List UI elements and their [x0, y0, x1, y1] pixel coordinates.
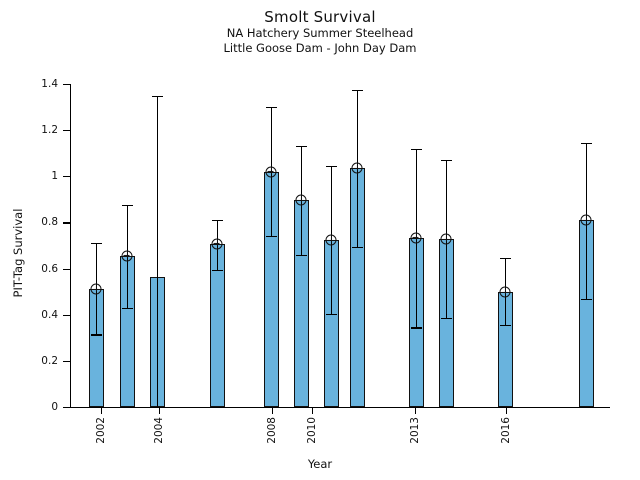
data-point-marker[interactable]: [500, 287, 511, 298]
error-bar-cap-upper: [122, 205, 133, 206]
y-tick-mark: [63, 130, 70, 131]
error-bar-cap-upper: [266, 107, 277, 108]
y-tick-label: 0.2: [16, 355, 58, 367]
data-point-marker[interactable]: [266, 166, 277, 177]
chart-figure: Smolt Survival NA Hatchery Summer Steelh…: [0, 0, 640, 480]
x-tick-label: 2008: [265, 417, 279, 461]
y-tick-label: 1: [16, 170, 58, 182]
y-tick-mark: [63, 222, 70, 223]
error-bar-cap-lower: [296, 255, 307, 256]
data-point-marker[interactable]: [122, 250, 133, 261]
data-point-marker[interactable]: [91, 284, 102, 295]
data-point-marker[interactable]: [441, 234, 452, 245]
x-tick-label: 2002: [94, 417, 108, 461]
data-point-marker[interactable]: [296, 195, 307, 206]
x-tick-mark: [101, 407, 102, 414]
x-tick-label-text: 2016: [500, 417, 512, 444]
x-tick-label: 2004: [152, 417, 166, 461]
y-tick-mark: [63, 407, 70, 408]
error-bar-cap-lower: [500, 325, 511, 326]
y-tick-mark: [63, 176, 70, 177]
error-bar-cap-lower: [266, 236, 277, 237]
y-tick-label: 1.4: [16, 78, 58, 90]
data-point-marker[interactable]: [326, 235, 337, 246]
x-tick-mark: [159, 407, 160, 414]
chart-subtitle-line-1: NA Hatchery Summer Steelhead: [0, 26, 640, 41]
error-bar-cap-upper: [152, 96, 163, 97]
data-point-marker[interactable]: [352, 163, 363, 174]
error-bar-cap-lower: [326, 314, 337, 315]
error-bar-cap-upper: [212, 220, 223, 221]
x-axis-line: [70, 407, 610, 408]
x-tick-mark: [415, 407, 416, 414]
x-tick-label-text: 2002: [95, 417, 107, 444]
error-bar-cap-upper: [91, 243, 102, 244]
y-tick-label: 0: [16, 401, 58, 413]
y-tick-label: 1.2: [16, 124, 58, 136]
error-bar-cap-lower: [122, 308, 133, 309]
x-tick-label: 2016: [499, 417, 513, 461]
x-tick-mark: [272, 407, 273, 414]
error-bar-cap-upper: [296, 146, 307, 147]
error-bar-cap-upper: [581, 143, 592, 144]
error-bar-cap-lower: [91, 334, 102, 335]
chart-subtitle-line-2: Little Goose Dam - John Day Dam: [0, 41, 640, 56]
data-point-marker[interactable]: [411, 232, 422, 243]
y-tick-mark: [63, 84, 70, 85]
error-bar-cap-lower: [352, 247, 363, 248]
chart-title: Smolt Survival: [0, 8, 640, 26]
x-tick-label: 2013: [408, 417, 422, 461]
y-tick-mark: [63, 361, 70, 362]
error-bar-cap-upper: [352, 90, 363, 91]
data-point-marker[interactable]: [581, 215, 592, 226]
data-point-marker[interactable]: [212, 238, 223, 249]
y-axis-line: [70, 84, 71, 408]
x-tick-label-text: 2004: [153, 417, 165, 444]
x-tick-mark: [506, 407, 507, 414]
x-tick-mark: [312, 407, 313, 414]
x-tick-label-text: 2008: [266, 417, 278, 444]
x-tick-label: 2010: [305, 417, 319, 461]
error-bar-cap-upper: [411, 149, 422, 150]
title-block: Smolt Survival NA Hatchery Summer Steelh…: [0, 8, 640, 56]
x-axis-label: Year: [0, 457, 640, 471]
error-bar-cap-upper: [326, 166, 337, 167]
x-tick-label-text: 2013: [409, 417, 421, 444]
y-tick-mark: [63, 269, 70, 270]
error-bar-cap-lower: [441, 318, 452, 319]
error-bar-cap-lower: [411, 327, 422, 328]
y-axis-label: PIT-Tag Survival: [11, 183, 25, 323]
error-bar-cap-lower: [581, 299, 592, 300]
y-tick-mark: [63, 315, 70, 316]
error-bar-line: [157, 96, 158, 407]
error-bar-cap-upper: [441, 160, 452, 161]
x-tick-label-text: 2010: [306, 417, 318, 444]
error-bar-cap-lower: [212, 270, 223, 271]
error-bar-cap-upper: [500, 258, 511, 259]
